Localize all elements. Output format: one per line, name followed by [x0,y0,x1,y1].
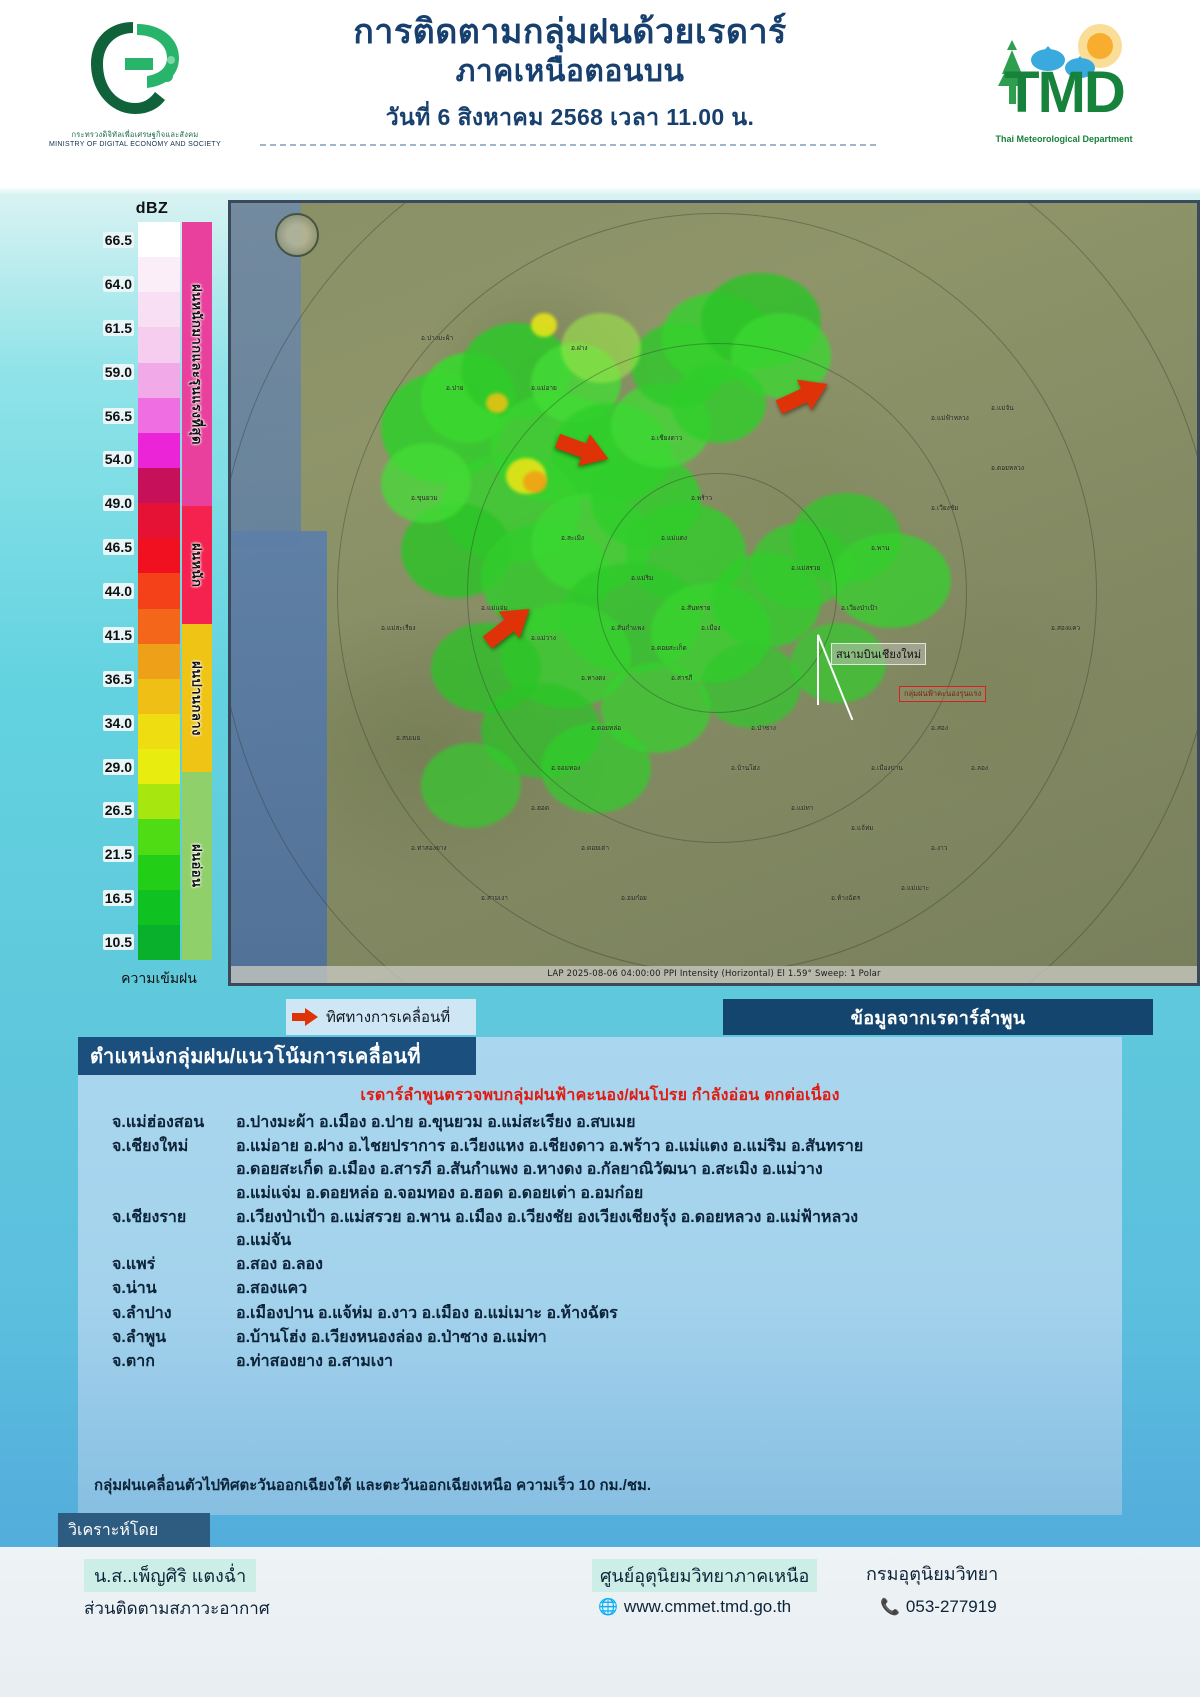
district-list: อ.สองแคว [236,1277,1106,1300]
legend-tick: 61.5 [103,320,134,336]
legend-footer-label: ความเข้มฝน [74,968,244,990]
province-row: จ.เชียงรายอ.เวียงป่าเป้า อ.แม่สรวย อ.พาน… [96,1206,1106,1252]
analyst-department: ส่วนติดตามสภาวะอากาศ [84,1595,270,1622]
range-ring [228,200,1200,986]
legend-tick: 66.5 [103,232,134,248]
province-list: จ.แม่ฮ่องสอนอ.ปางมะผ้า อ.เมือง อ.ปาย อ.ข… [96,1111,1106,1374]
dbz-legend: dBZ 66.564.061.559.056.554.049.046.544.0… [82,200,232,1000]
province-name: จ.ลำปาง [96,1302,236,1325]
district-list: อ.แม่อาย อ.ฝาง อ.ไชยปราการ อ.เวียงแหง อ.… [236,1135,1106,1205]
map-place-label: อ.แม่อาย [531,383,557,393]
callout-leader-line-1 [817,635,819,705]
analyst-tab: วิเคราะห์โดย [58,1513,210,1547]
map-place-label: อ.ขุนยวม [411,493,438,503]
legend-tick: 41.5 [103,627,134,643]
province-name: จ.เชียงใหม่ [96,1135,236,1158]
page-footer: น.ส..เพ็ญศิริ แตงฉ่ำ ส่วนติดตามสภาวะอากา… [0,1547,1200,1697]
map-place-label: อ.แม่ทา [791,803,813,813]
page-header: กระทรวงดิจิทัลเพื่อเศรษฐกิจและสังคม MINI… [0,0,1200,188]
district-line: อ.ท่าสองยาง อ.สามเงา [236,1350,1106,1373]
legend-tick: 36.5 [103,671,134,687]
legend-tick: 44.0 [103,583,134,599]
legend-category: ฝนอ่อน [182,772,212,960]
province-row: จ.แม่ฮ่องสอนอ.ปางมะผ้า อ.เมือง อ.ปาย อ.ข… [96,1111,1106,1134]
map-place-label: อ.พร้าว [691,493,712,503]
map-place-label: อ.ฝาง [571,343,588,353]
legend-tick: 64.0 [103,276,134,292]
province-row: จ.เชียงใหม่อ.แม่อาย อ.ฝาง อ.ไชยปราการ อ.… [96,1135,1106,1205]
province-row: จ.ลำปางอ.เมืองปาน อ.แจ้ห่ม อ.งาว อ.เมือง… [96,1302,1106,1325]
map-place-label: อ.แม่ริม [631,573,653,583]
map-place-label: อ.แม่สะเรียง [381,623,416,633]
report-datetime: วันที่ 6 สิงหาคม 2568 เวลา 11.00 น. [230,100,910,136]
map-place-label: อ.ปางมะผ้า [421,333,453,343]
rain-position-panel: ตำแหน่งกลุ่มฝน/แนวโน้มการเคลื่อนที่ เรดา… [78,1037,1122,1515]
district-list: อ.บ้านโฮ่ง อ.เวียงหนองล่อง อ.ป่าซาง อ.แม… [236,1326,1106,1349]
map-place-label: อ.ฮอด [531,803,549,813]
district-line: อ.สอง อ.ลอง [236,1253,1106,1276]
title-block: การติดตามกลุ่มฝนด้วยเรดาร์ ภาคเหนือตอนบน… [230,12,910,146]
legend-category: ฝนปานกลาง [182,624,212,772]
legend-category-label: ฝนหนัก [187,543,208,587]
legend-color-band [138,468,180,503]
legend-unit-title: dBZ [112,200,192,218]
alert-text: เรดาร์ลำพูนตรวจพบกลุ่มฝนฟ้าคะนอง/ฝนโปรย … [78,1083,1122,1108]
legend-category: ฝนหนักมากและรุนแรงที่สุด [182,222,212,506]
legend-color-band [138,679,180,714]
legend-category: ฝนหนัก [182,506,212,624]
legend-color-band [138,222,180,257]
northern-center-name: ศูนย์อุตุนิยมวิทยาภาคเหนือ [592,1559,817,1592]
telephone-number[interactable]: 053-277919 [906,1597,997,1617]
legend-tick: 49.0 [103,495,134,511]
website-url[interactable]: www.cmmet.tmd.go.th [624,1597,791,1617]
district-list: อ.เวียงป่าเป้า อ.แม่สรวย อ.พาน อ.เมือง อ… [236,1206,1106,1252]
legend-tick: 10.5 [103,934,134,950]
radar-status-bar: LAP 2025-08-06 04:00:00 PPI Intensity (H… [231,966,1197,983]
phone-icon: 📞 [880,1597,900,1617]
province-row: จ.แพร่อ.สอง อ.ลอง [96,1253,1106,1276]
ministry-caption: กระทรวงดิจิทัลเพื่อเศรษฐกิจและสังคม MINI… [40,130,230,150]
map-place-label: อ.แม่ฟ้าหลวง [931,413,969,423]
airport-label: สนามบินเชียงใหม่ [831,643,926,665]
website-row[interactable]: 🌐 www.cmmet.tmd.go.th [598,1597,791,1617]
movement-note: กลุ่มฝนเคลื่อนตัวไปทิศตะวันออกเฉียงใต้ แ… [94,1473,1094,1497]
legend-color-band [138,363,180,398]
map-place-label: อ.พาน [871,543,889,553]
map-place-label: อ.สอง [931,723,948,733]
globe-icon: 🌐 [598,1597,618,1617]
district-list: อ.สอง อ.ลอง [236,1253,1106,1276]
map-place-label: อ.สองแคว [1051,623,1080,633]
province-name: จ.เชียงราย [96,1206,236,1229]
map-place-label: อ.แม่สรวย [791,563,820,573]
legend-category-label: ฝนอ่อน [187,844,208,888]
mdes-emblem-icon [75,14,195,126]
map-place-label: อ.เมือง [701,623,721,633]
province-row: จ.น่านอ.สองแคว [96,1277,1106,1300]
legend-tick: 34.0 [103,715,134,731]
ministry-logo: กระทรวงดิจิทัลเพื่อเศรษฐกิจและสังคม MINI… [40,14,230,174]
movement-direction-label: ทิศทางการเคลื่อนที่ [326,1005,450,1029]
legend-category-label: ฝนปานกลาง [187,661,208,736]
legend-tick: 59.0 [103,364,134,380]
map-place-label: อ.ดอยเต่า [581,843,609,853]
map-place-label: อ.สะเมิง [561,533,584,543]
map-place-label: อ.เวียงชัย [931,503,958,513]
map-place-label: อ.เมืองปาน [871,763,903,773]
district-list: อ.ปางมะผ้า อ.เมือง อ.ปาย อ.ขุนยวม อ.แม่ส… [236,1111,1106,1134]
legend-color-band [138,819,180,854]
map-canvas: อ.แม่อายอ.ฝางอ.เชียงดาวอ.พร้าวอ.แม่แตงอ.… [231,203,1197,983]
legend-color-band [138,573,180,608]
airport-callout [817,635,818,636]
legend-color-band [138,503,180,538]
legend-color-band [138,433,180,468]
map-place-label: อ.เชียงดาว [651,433,682,443]
legend-color-band [138,890,180,925]
district-line: อ.บ้านโฮ่ง อ.เวียงหนองล่อง อ.ป่าซาง อ.แม… [236,1326,1106,1349]
province-name: จ.แม่ฮ่องสอน [96,1111,236,1134]
legend-color-band [138,749,180,784]
map-place-label: อ.ปาย [446,383,464,393]
map-place-label: อ.สบเมย [396,733,420,743]
map-place-label: อ.ท่าสองยาง [411,843,447,853]
map-place-label: อ.สันกำแพง [611,623,645,633]
district-line: อ.แม่อาย อ.ฝาง อ.ไชยปราการ อ.เวียงแหง อ.… [236,1135,1106,1158]
district-line: อ.สองแคว [236,1277,1106,1300]
legend-color-band [138,714,180,749]
page-title: การติดตามกลุ่มฝนด้วยเรดาร์ [230,12,910,52]
movement-direction-chip: ทิศทางการเคลื่อนที่ [286,999,476,1035]
tmd-letters: TMD [974,64,1154,122]
legend-color-band [138,292,180,327]
radar-report-page: กระทรวงดิจิทัลเพื่อเศรษฐกิจและสังคม MINI… [0,0,1200,1697]
legend-tick: 56.5 [103,408,134,424]
severe-storm-box-label: กลุ่มฝนฟ้าคะนองรุนแรง [899,686,986,702]
right-arrow-icon [292,1008,318,1026]
legend-color-ramp [138,222,180,960]
district-line: อ.เวียงป่าเป้า อ.แม่สรวย อ.พาน อ.เมือง อ… [236,1206,1106,1229]
map-place-label: อ.ป่าซาง [751,723,776,733]
map-place-label: อ.หางดง [581,673,605,683]
province-name: จ.แพร่ [96,1253,236,1276]
panel-title: ตำแหน่งกลุ่มฝน/แนวโน้มการเคลื่อนที่ [78,1037,476,1075]
province-row: จ.ตากอ.ท่าสองยาง อ.สามเงา [96,1350,1106,1373]
province-row: จ.ลำพูนอ.บ้านโฮ่ง อ.เวียงหนองล่อง อ.ป่าซ… [96,1326,1106,1349]
province-name: จ.ตาก [96,1350,236,1373]
district-line: อ.ปางมะผ้า อ.เมือง อ.ปาย อ.ขุนยวม อ.แม่ส… [236,1111,1106,1134]
legend-tick: 54.0 [103,451,134,467]
map-place-label: อ.บ้านโฮ่ง [731,763,760,773]
legend-category-label: ฝนหนักมากและรุนแรงที่สุด [187,284,208,445]
analyst-name: น.ส..เพ็ญศิริ แตงฉ่ำ [84,1559,256,1592]
district-line: อ.แม่แจ่ม อ.ดอยหล่อ อ.จอมทอง อ.ฮอด อ.ดอย… [236,1182,1106,1205]
district-line: อ.แม่จัน [236,1229,1106,1252]
tmd-department-name: กรมอุตุนิยมวิทยา [866,1559,998,1588]
district-line: อ.ดอยสะเก็ด อ.เมือง อ.สารภี อ.สันกำแพง อ… [236,1158,1106,1181]
tmd-seal-icon [275,213,319,257]
legend-tick: 46.5 [103,539,134,555]
legend-color-band [138,925,180,960]
map-place-label: อ.จอมทอง [551,763,580,773]
map-place-label: อ.สันทราย [681,603,711,613]
map-place-label: อ.แม่เมาะ [901,883,929,893]
map-place-label: อ.เวียงป่าเป้า [841,603,878,613]
district-list: อ.เมืองปาน อ.แจ้ห่ม อ.งาว อ.เมือง อ.แม่เ… [236,1302,1106,1325]
legend-color-band [138,327,180,362]
legend-color-band [138,609,180,644]
radar-map[interactable]: อ.แม่อายอ.ฝางอ.เชียงดาวอ.พร้าวอ.แม่แตงอ.… [228,200,1200,986]
legend-category-column: ฝนหนักมากและรุนแรงที่สุดฝนหนักฝนปานกลางฝ… [182,222,212,960]
legend-tick: 16.5 [103,890,134,906]
map-place-label: อ.อมก๋อย [621,893,647,903]
map-place-label: อ.แจ้ห่ม [851,823,874,833]
map-place-label: อ.ดอยหล่อ [591,723,621,733]
map-place-label: อ.สารภี [671,673,692,683]
map-place-label: อ.แม่จัน [991,403,1014,413]
legend-tick: 29.0 [103,759,134,775]
telephone-row[interactable]: 📞 053-277919 [880,1597,997,1617]
map-place-label: อ.งาว [931,843,947,853]
tmd-subtitle: Thai Meteorological Department [974,134,1154,144]
legend-color-band [138,538,180,573]
map-place-label: อ.ลอง [971,763,988,773]
map-place-label: อ.แม่แตง [661,533,687,543]
map-place-label: อ.ห้างฉัตร [831,893,860,903]
district-line: อ.เมืองปาน อ.แจ้ห่ม อ.งาว อ.เมือง อ.แม่เ… [236,1302,1106,1325]
district-list: อ.ท่าสองยาง อ.สามเงา [236,1350,1106,1373]
legend-tick-labels: 66.564.061.559.056.554.049.046.544.041.5… [82,222,136,960]
legend-color-band [138,257,180,292]
radar-source-banner: ข้อมูลจากเรดาร์ลำพูน [723,999,1153,1035]
legend-tick: 21.5 [103,846,134,862]
legend-color-band [138,784,180,819]
map-place-label: อ.สามเงา [481,893,508,903]
legend-color-band [138,855,180,890]
map-place-label: อ.ดอยสะเก็ด [651,643,687,653]
page-subtitle: ภาคเหนือตอนบน [230,54,910,90]
legend-color-band [138,398,180,433]
legend-tick: 26.5 [103,802,134,818]
map-place-label: อ.แม่วาง [531,633,556,643]
legend-color-band [138,644,180,679]
tmd-logo: TMD Thai Meteorological Department [974,12,1154,172]
map-place-label: อ.ดอยหลวง [991,463,1024,473]
province-name: จ.ลำพูน [96,1326,236,1349]
title-divider [260,144,880,146]
province-name: จ.น่าน [96,1277,236,1300]
